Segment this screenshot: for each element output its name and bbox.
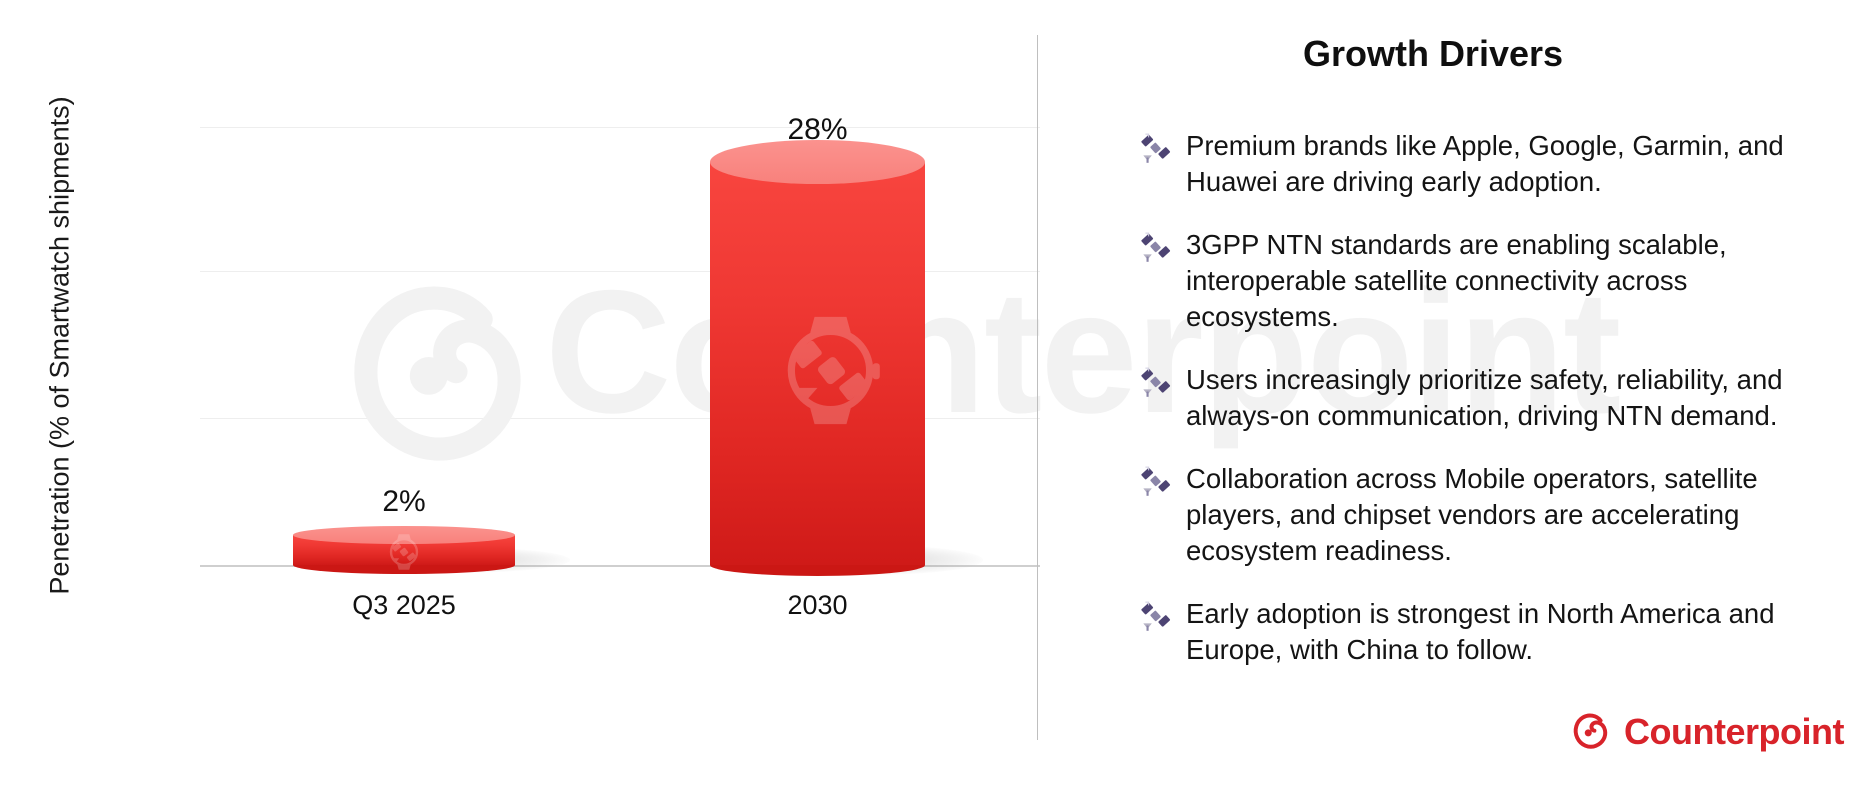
chart-page: Counterpoint Penetration (% of Smartwatc… [0, 0, 1866, 811]
x-tick-q3-2025: Q3 2025 [293, 590, 515, 621]
satellite-icon [1138, 600, 1172, 634]
plot-area: 30% 20% 10% 0% [200, 100, 1040, 670]
satellite-icon [1138, 366, 1172, 400]
bar-q3-2025[interactable] [293, 535, 515, 565]
y-axis-title: Penetration (% of Smartwatch shipments) [45, 66, 76, 626]
list-item: Collaboration across Mobile operators, s… [1138, 461, 1838, 569]
list-item: Premium brands like Apple, Google, Garmi… [1138, 128, 1838, 200]
bar-value-2030: 28% [710, 113, 925, 147]
satellite-icon [1138, 465, 1172, 499]
growth-drivers-panel: Growth Drivers Premium brands like Apple… [1038, 0, 1866, 811]
x-tick-2030: 2030 [710, 590, 925, 621]
growth-drivers-list: Premium brands like Apple, Google, Garmi… [1138, 128, 1838, 695]
satellite-icon [1138, 132, 1172, 166]
counterpoint-logo-icon [1568, 710, 1612, 754]
list-item-text: Early adoption is strongest in North Ame… [1186, 596, 1838, 668]
list-item-text: Collaboration across Mobile operators, s… [1186, 461, 1838, 569]
bar-2030[interactable] [710, 162, 925, 565]
list-item-text: Premium brands like Apple, Google, Garmi… [1186, 128, 1838, 200]
counterpoint-logo: Counterpoint [1568, 710, 1844, 754]
chart-panel: Penetration (% of Smartwatch shipments) … [0, 0, 1037, 811]
list-item-text: Users increasingly prioritize safety, re… [1186, 362, 1838, 434]
bar-body [710, 162, 925, 565]
growth-drivers-title: Growth Drivers [1038, 33, 1828, 75]
list-item: Users increasingly prioritize safety, re… [1138, 362, 1838, 434]
list-item: 3GPP NTN standards are enabling scalable… [1138, 227, 1838, 335]
bar-value-q3-2025: 2% [293, 485, 515, 519]
list-item-text: 3GPP NTN standards are enabling scalable… [1186, 227, 1838, 335]
satellite-icon [1138, 231, 1172, 265]
list-item: Early adoption is strongest in North Ame… [1138, 596, 1838, 668]
counterpoint-logo-text: Counterpoint [1624, 711, 1844, 753]
bar-top-cap [293, 526, 515, 544]
